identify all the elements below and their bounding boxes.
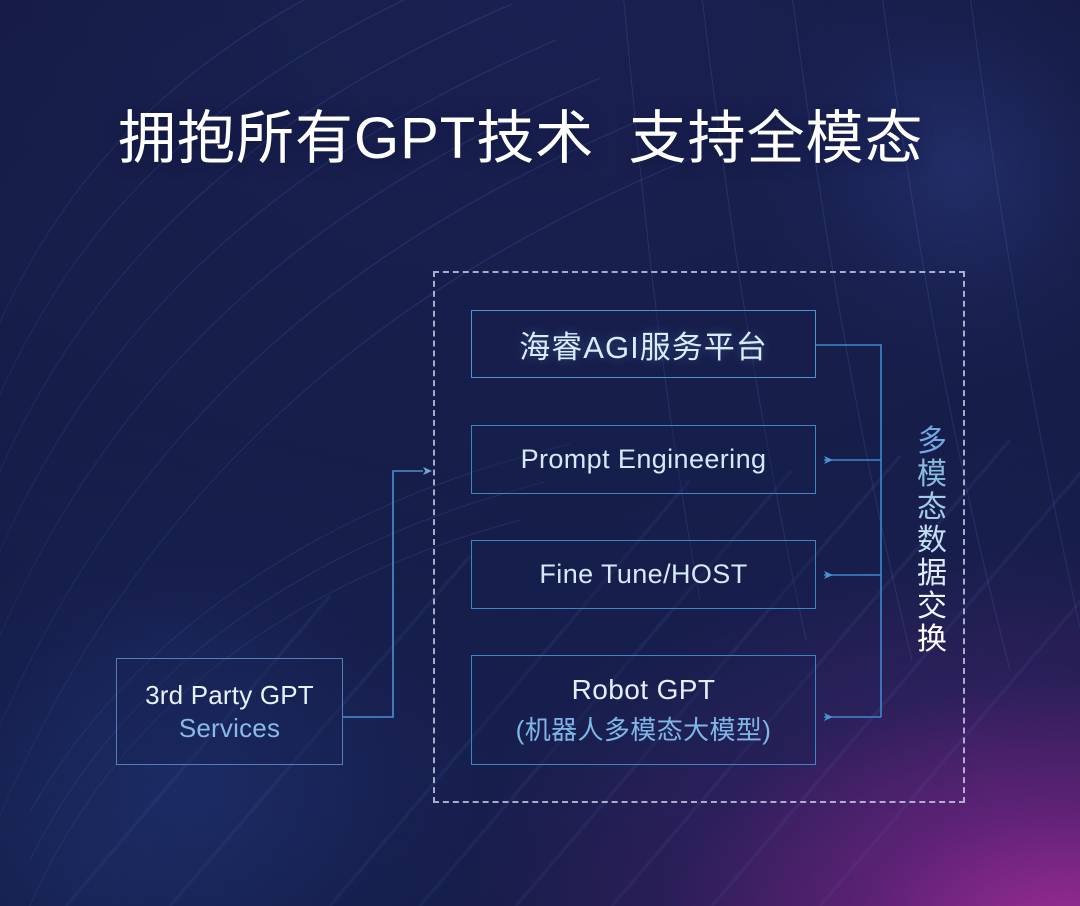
node-fine-tune-host-label: Fine Tune/HOST — [539, 559, 747, 590]
node-agi-platform-label: 海睿AGI服务平台 — [519, 322, 767, 367]
node-prompt-engineering-label: Prompt Engineering — [521, 444, 767, 475]
vertical-label-char: 据 — [912, 557, 952, 590]
node-robot-gpt-title: Robot GPT — [572, 674, 716, 706]
slide-canvas: 拥抱所有GPT技术 支持全模态 海睿AGI服务平台 Prom — [0, 0, 1080, 906]
node-fine-tune-host[interactable]: Fine Tune/HOST — [471, 540, 816, 609]
node-robot-gpt[interactable]: Robot GPT (机器人多模态大模型) — [471, 655, 816, 765]
vertical-label-char: 换 — [912, 623, 952, 656]
node-third-party-line2: Services — [179, 713, 280, 744]
node-third-party-line1: 3rd Party GPT — [145, 680, 314, 711]
node-robot-gpt-subtitle: (机器人多模态大模型) — [516, 710, 772, 747]
node-third-party-gpt-services[interactable]: 3rd Party GPT Services — [116, 658, 343, 765]
vertical-label-char: 交 — [912, 590, 952, 623]
node-prompt-engineering[interactable]: Prompt Engineering — [471, 425, 816, 494]
node-agi-platform[interactable]: 海睿AGI服务平台 — [471, 310, 816, 378]
vertical-label-char: 模 — [912, 458, 952, 491]
vertical-label-char: 态 — [912, 491, 952, 524]
vertical-label-multimodal-data-exchange: 多 模 态 数 据 交 换 — [912, 425, 952, 656]
page-title: 拥抱所有GPT技术 支持全模态 — [118, 108, 923, 171]
vertical-label-char: 多 — [912, 425, 952, 458]
vertical-label-char: 数 — [912, 524, 952, 557]
